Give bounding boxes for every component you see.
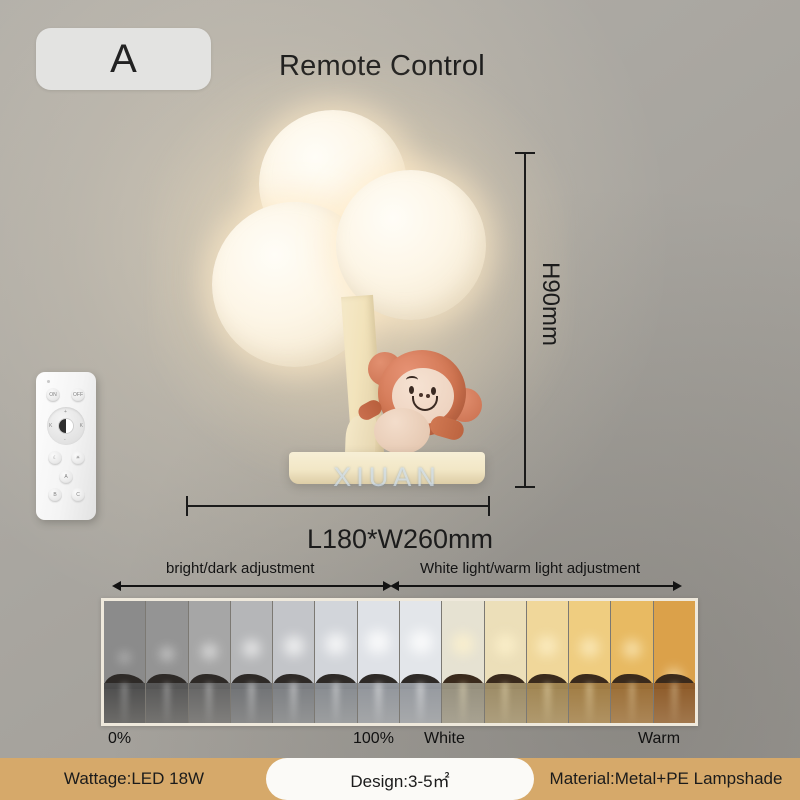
light-demo-panel (654, 601, 695, 723)
product-image-canvas: A Remote Control XIUAN H90mm L180 (0, 0, 800, 800)
light-demo-panel (442, 601, 484, 723)
light-demo-panel (400, 601, 442, 723)
panel-sea (104, 683, 145, 723)
light-demo-panel (315, 601, 357, 723)
width-dimension-label: L180*W260mm (0, 524, 800, 555)
panel-sky (146, 601, 187, 683)
remote-control[interactable]: ON OFF + - K K ☾ ☀ A B C (36, 372, 96, 520)
height-dimension-label: H90mm (536, 262, 564, 346)
panel-sun (197, 639, 222, 664)
remote-preset-c-button[interactable]: C (71, 488, 85, 502)
panel-sea (527, 683, 568, 723)
panel-sun (575, 633, 604, 662)
light-demo-panel (104, 601, 146, 723)
remote-on-button[interactable]: ON (46, 388, 60, 402)
panel-sun (156, 643, 178, 665)
light-demo-panel (527, 601, 569, 723)
remote-dpad[interactable]: + - K K (47, 407, 85, 445)
panel-sea (485, 683, 526, 723)
panel-sun (618, 635, 646, 663)
spec-item-0: Wattage:LED 18W (0, 758, 268, 800)
light-demo-panel (485, 601, 527, 723)
panel-sun-reflection (333, 683, 340, 723)
panel-sun-reflection (502, 683, 509, 723)
specification-bar: Wattage:LED 18WDesign:3-5㎡Material:Metal… (0, 758, 800, 800)
panel-sun-reflection (629, 683, 636, 723)
panel-sea (654, 683, 695, 723)
spec-item-1: Design:3-5㎡ (266, 758, 534, 800)
monkey-brow (406, 376, 418, 384)
lamp-base (289, 452, 485, 484)
remote-off-button[interactable]: OFF (71, 388, 85, 402)
remote-dpad-left[interactable]: K (49, 423, 52, 429)
height-dimension-line (524, 152, 526, 488)
light-demo-panel (231, 601, 273, 723)
light-demo-panel (146, 601, 188, 723)
color-temp-range-arrow (398, 585, 674, 587)
light-demo-panel (358, 601, 400, 723)
panel-sea (611, 683, 652, 723)
panel-sun (279, 631, 309, 661)
spec-item-2: Material:Metal+PE Lampshade (532, 758, 800, 800)
scale-labels: 0% 100% White Warm (0, 730, 800, 754)
light-demo-panel (611, 601, 653, 723)
scale-min-label: 0% (108, 730, 131, 748)
brightness-range-label: bright/dark adjustment (166, 560, 314, 577)
panel-sun-reflection (671, 683, 678, 723)
light-demo-strip (101, 598, 698, 726)
panel-sun-reflection (417, 683, 424, 723)
remote-dpad-right[interactable]: K (80, 423, 83, 429)
remote-preset-a-button[interactable]: A (59, 470, 73, 484)
panel-sun (490, 629, 521, 660)
color-temp-range-label: White light/warm light adjustment (420, 560, 640, 577)
panel-sun-reflection (544, 683, 551, 723)
panel-sun-reflection (290, 683, 297, 723)
panel-sun (320, 628, 353, 661)
adjustment-arrows: bright/dark adjustment White light/warm … (0, 560, 800, 598)
panel-sun-reflection (248, 683, 255, 723)
panel-sea (146, 683, 187, 723)
remote-night-mode-icon[interactable]: ☾ (48, 451, 62, 465)
panel-sun-reflection (586, 683, 593, 723)
remote-dpad-down[interactable]: - (64, 437, 66, 443)
panel-sea (358, 683, 399, 723)
monkey-eye-right (431, 387, 436, 395)
panel-sun-reflection (206, 683, 213, 723)
light-demo-panel (189, 601, 231, 723)
remote-day-mode-icon[interactable]: ☀ (71, 451, 85, 465)
panel-sun (404, 625, 438, 659)
panel-sun-reflection (460, 683, 467, 723)
scale-white-label: White (424, 730, 465, 748)
light-demo-panel (273, 601, 315, 723)
panel-sun-reflection (375, 683, 382, 723)
panel-sun-reflection (164, 683, 171, 723)
panel-sea (231, 683, 272, 723)
light-demo-panel (569, 601, 611, 723)
scale-warm-label: Warm (638, 730, 680, 748)
lamp-illustration: XIUAN (0, 0, 800, 560)
scale-max-label: 100% (353, 730, 394, 748)
panel-sea (400, 683, 441, 723)
monkey-eye-left (409, 386, 414, 394)
monkey-figurine (362, 340, 482, 460)
monkey-belly (374, 408, 430, 454)
panel-sun (447, 628, 480, 661)
panel-sea (569, 683, 610, 723)
light-demo-panels (104, 601, 695, 723)
panel-sea (273, 683, 314, 723)
panel-sky (104, 601, 145, 683)
panel-sun (115, 648, 134, 667)
remote-center-button[interactable] (59, 419, 73, 433)
remote-dpad-up[interactable]: + (64, 409, 67, 415)
panel-sea (442, 683, 483, 723)
remote-preset-b-button[interactable]: B (48, 488, 62, 502)
remote-led-indicator (47, 380, 50, 383)
panel-sea (189, 683, 230, 723)
width-dimension-line (186, 505, 490, 507)
panel-sea (315, 683, 356, 723)
brightness-range-arrow (120, 585, 384, 587)
panel-sun-reflection (121, 683, 128, 723)
